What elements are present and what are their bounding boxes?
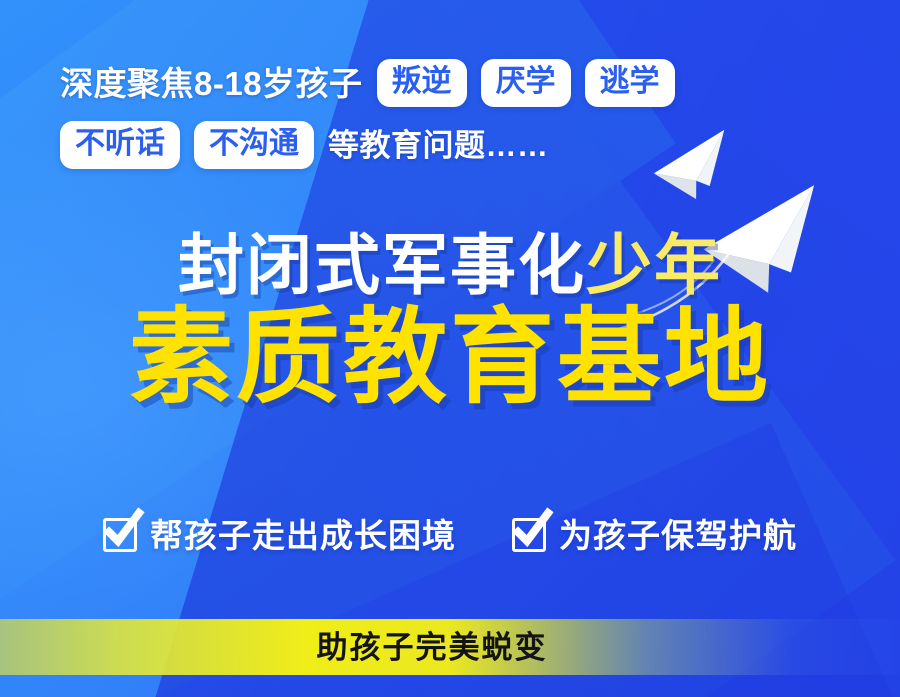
- headline-tag-rebellious[interactable]: 叛逆: [377, 59, 467, 107]
- feature-label: 帮孩子走出成长困境: [150, 519, 456, 552]
- checkbox-checked-icon: [512, 518, 546, 552]
- title-line-1-accent: 少年: [586, 228, 722, 302]
- feature-item: 帮孩子走出成长困境: [103, 518, 456, 552]
- title-line-2: 素质教育基地: [0, 305, 900, 411]
- page-title: 封闭式军事化少年 素质教育基地: [0, 232, 900, 411]
- headline-row-1: 深度聚焦8-18岁孩子 叛逆 厌学 逃学: [60, 56, 840, 110]
- headline-tag-school-aversion[interactable]: 厌学: [481, 59, 571, 107]
- headline-lead-text: 深度聚焦8-18岁孩子: [60, 67, 363, 100]
- headline-row-2: 不听话 不沟通 等教育问题……: [60, 118, 840, 172]
- feature-item: 为孩子保驾护航: [512, 518, 797, 552]
- feature-label: 为孩子保驾护航: [559, 519, 797, 552]
- headline-tail-text: 等教育问题……: [328, 130, 549, 161]
- feature-list: 帮孩子走出成长困境 为孩子保驾护航: [0, 518, 900, 552]
- headline-tag-truancy[interactable]: 逃学: [585, 59, 675, 107]
- headline-tag-no-communication[interactable]: 不沟通: [194, 121, 314, 169]
- headline-tag-disobedient[interactable]: 不听话: [60, 121, 180, 169]
- headline-tag-rows: 深度聚焦8-18岁孩子 叛逆 厌学 逃学 不听话 不沟通 等教育问题……: [0, 56, 900, 172]
- footer-slogan-text: 助孩子完美蜕变: [317, 632, 548, 663]
- checkbox-checked-icon: [103, 518, 137, 552]
- title-line-1-white: 封闭式军事化: [178, 228, 586, 302]
- footer-slogan-bar: 助孩子完美蜕变: [0, 619, 900, 675]
- title-line-1: 封闭式军事化少年: [0, 232, 900, 299]
- promo-banner: 深度聚焦8-18岁孩子 叛逆 厌学 逃学 不听话 不沟通 等教育问题…… 封闭式…: [0, 0, 900, 697]
